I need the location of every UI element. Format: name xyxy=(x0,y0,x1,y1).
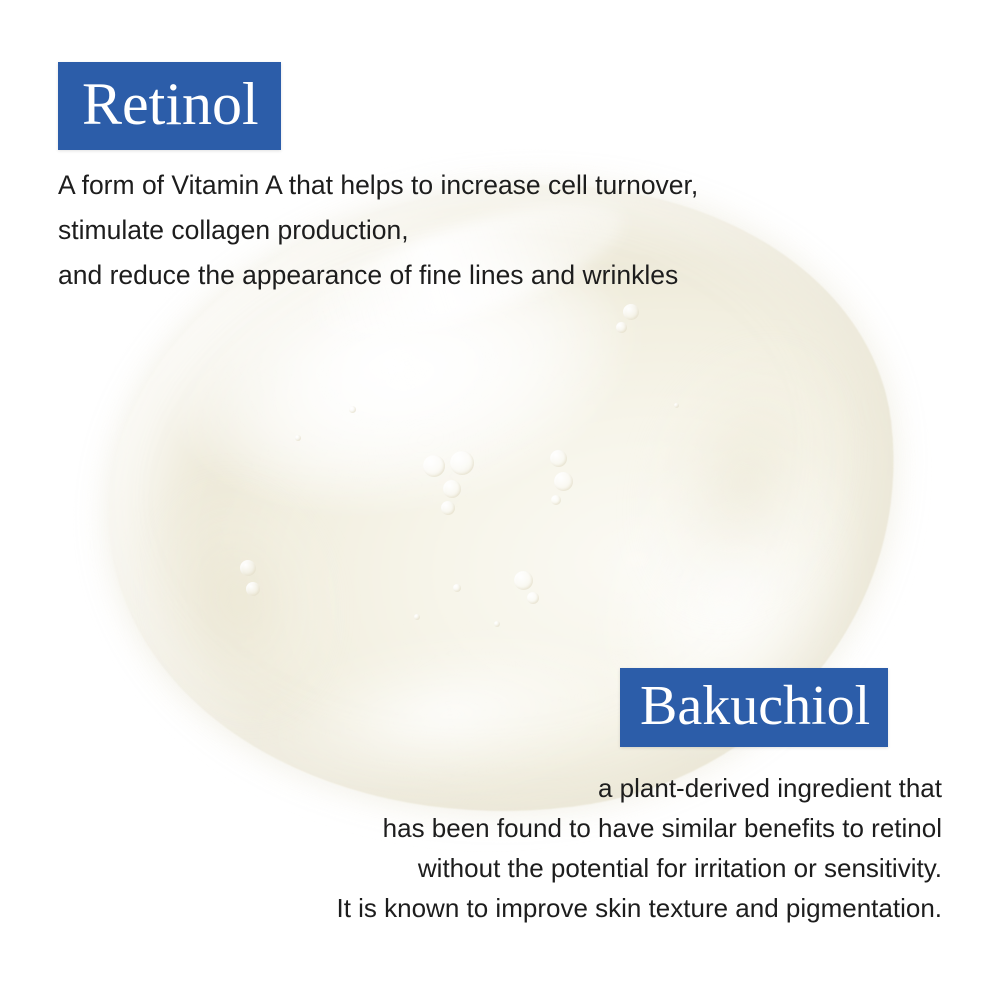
gel-bubble xyxy=(240,560,256,576)
gel-bubble xyxy=(246,582,260,596)
gel-bubble xyxy=(616,322,627,333)
retinol-title-chip: Retinol xyxy=(58,62,281,150)
gel-bubble xyxy=(514,571,533,590)
gel-bubble xyxy=(554,472,573,491)
retinol-line-3: and reduce the appearance of fine lines … xyxy=(58,253,698,298)
gel-bubble xyxy=(441,501,455,515)
gel-bubble xyxy=(674,403,679,408)
gel-bubble xyxy=(623,304,639,320)
gel-bubble xyxy=(453,584,461,592)
gel-bubble xyxy=(450,451,474,475)
gel-bubble xyxy=(423,455,445,477)
retinol-line-2: stimulate collagen production, xyxy=(58,208,698,253)
bakuchiol-line-3: without the potential for irritation or … xyxy=(336,848,942,888)
infographic-poster: Retinol A form of Vitamin A that helps t… xyxy=(0,0,1000,1000)
bakuchiol-line-2: has been found to have similar benefits … xyxy=(336,808,942,848)
gel-bubble xyxy=(443,480,461,498)
gel-bubble xyxy=(494,621,500,627)
retinol-line-1: A form of Vitamin A that helps to increa… xyxy=(58,163,698,208)
retinol-description: A form of Vitamin A that helps to increa… xyxy=(58,163,698,298)
bakuchiol-line-4: It is known to improve skin texture and … xyxy=(336,888,942,928)
gel-bubble xyxy=(551,495,561,505)
bakuchiol-description: a plant-derived ingredient that has been… xyxy=(336,768,942,928)
bakuchiol-line-1: a plant-derived ingredient that xyxy=(336,768,942,808)
gel-bubble xyxy=(550,450,567,467)
gel-bubble xyxy=(414,614,420,620)
gel-bubble xyxy=(349,406,356,413)
gel-bubble xyxy=(527,592,539,604)
gel-bubble xyxy=(295,435,301,441)
bakuchiol-title-chip: Bakuchiol xyxy=(620,668,888,747)
